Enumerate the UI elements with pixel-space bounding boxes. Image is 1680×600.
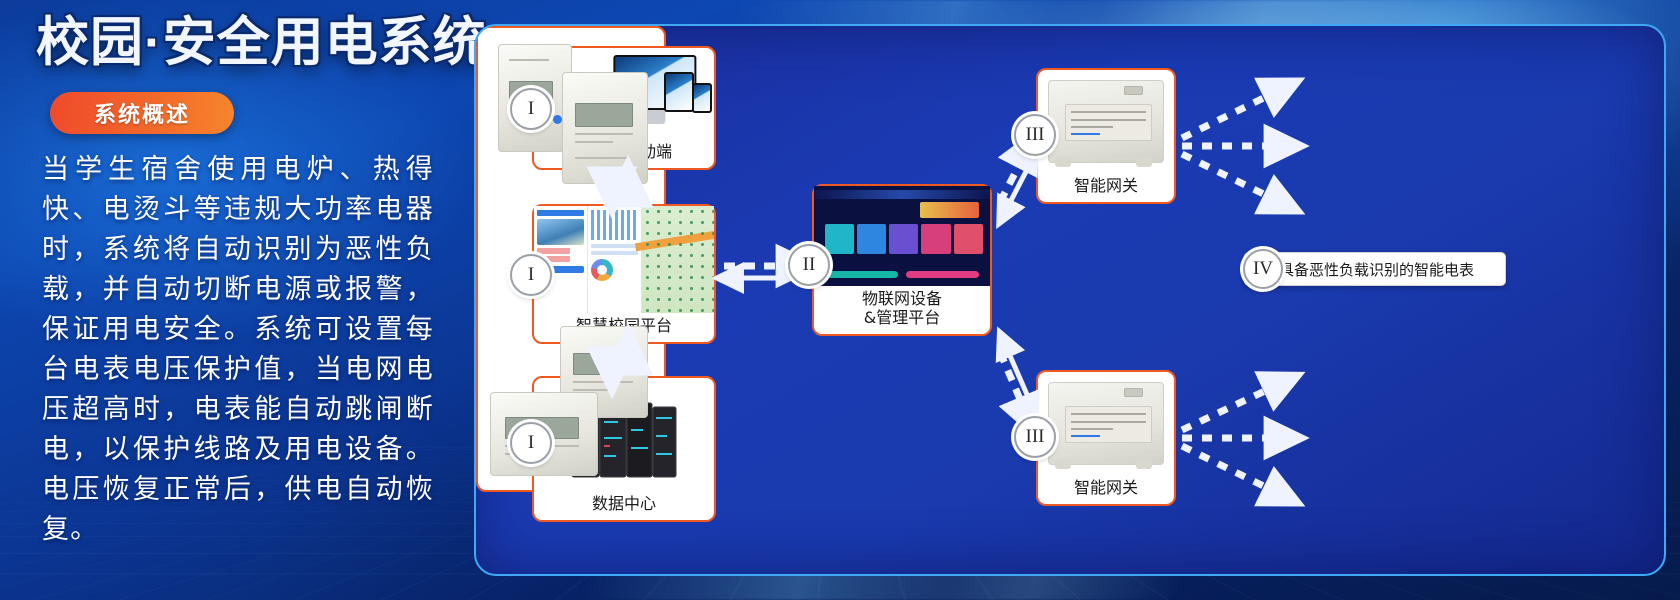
numeral-badge-gateway-bottom: III [1014, 416, 1056, 458]
meters-callout[interactable]: IV 具备恶性负载识别的智能电表 [1244, 252, 1506, 286]
numeral-badge-campus: I [510, 254, 552, 296]
system-overview-badge: 系统概述 [50, 92, 234, 134]
numeral-badge-meters: IV [1243, 249, 1283, 289]
numeral-badge-gateway-top: III [1014, 114, 1056, 156]
numeral-badge-iot: II [788, 244, 830, 286]
numeral-badge-datacenter: I [510, 422, 552, 464]
page-title: 校园·安全用电系统 [36, 14, 487, 72]
architecture-diagram-panel: 管理及移动端 I 智慧校园平台 I [474, 24, 1666, 576]
intro-column: 校园·安全用电系统 系统概述 当学生宿舍使用电炉、热得快、电烫斗等违规大功率电器… [0, 0, 470, 600]
system-description: 当学生宿舍使用电炉、热得快、电烫斗等违规大功率电器时，系统将自动识别为恶性负载，… [42, 150, 434, 550]
connector-arrows [476, 26, 1666, 576]
meters-callout-label: 具备恶性负载识别的智能电表 [1279, 259, 1474, 280]
numeral-badge-management: I [510, 88, 552, 130]
